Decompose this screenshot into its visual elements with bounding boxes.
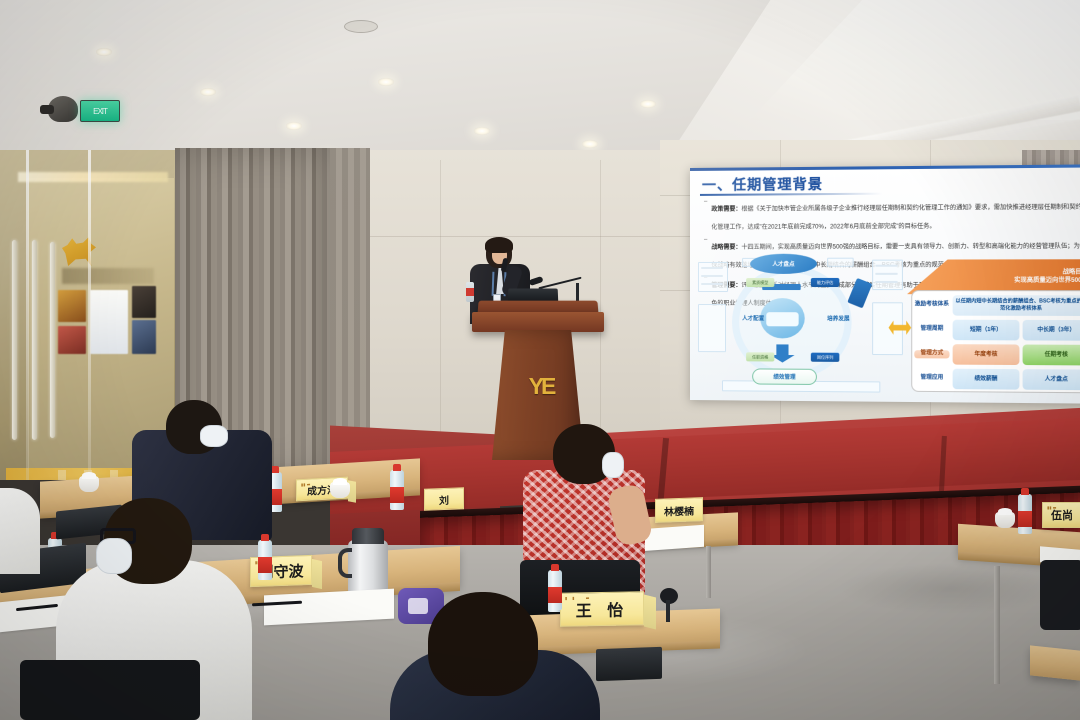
showcase-photo bbox=[58, 326, 86, 354]
diagram-tag: 素质模型 bbox=[746, 278, 774, 287]
diagram-ghost-line bbox=[701, 275, 723, 277]
showcase-caption-block bbox=[62, 268, 154, 284]
diagram-node-left-label: 人才配置 bbox=[742, 314, 764, 322]
table-row-label: 管理方式 bbox=[914, 350, 949, 358]
table-cell: 任期考核 bbox=[1023, 345, 1080, 366]
slide-bullet-item: – 政策需要：根据《关于加快市管企业所属各级子企业推行经理层任期制和契约化管理工… bbox=[704, 195, 1080, 234]
projection-screen: 一、任期管理背景 – 政策需要：根据《关于加快市管企业所属各级子企业推行经理层任… bbox=[690, 164, 1080, 403]
conference-room-photo: EXIT 一、任期管理背景 bbox=[0, 0, 1080, 720]
diagram-node-right: 培养发展 bbox=[817, 310, 860, 326]
desk-microphone-stem bbox=[666, 600, 670, 622]
door-handle[interactable] bbox=[12, 240, 17, 440]
water-bottle bbox=[390, 470, 404, 510]
slide-incentive-table: 激励考核体系 以任期内短中长期结合的薪酬组合、BSC考核为重点的规范化激励考核体… bbox=[911, 290, 1080, 393]
diagram-node-left: 人才配置 bbox=[732, 310, 774, 326]
presentation-slide: 一、任期管理背景 – 政策需要：根据《关于加快市管企业所属各级子企业推行经理层任… bbox=[690, 164, 1080, 403]
table-cell: 人才盘点 bbox=[1023, 369, 1080, 390]
diagram-ghost-line bbox=[875, 273, 898, 275]
slide-title-underline bbox=[700, 193, 882, 196]
security-camera-icon bbox=[48, 96, 78, 122]
diagram-node-top: 人才盘点 bbox=[750, 254, 817, 274]
tea-cup bbox=[79, 476, 99, 492]
slide-cycle-diagram: 人才盘点 人才配置 培养发展 绩效管理 素质模型 能力评估 任职资格 岗位序列 bbox=[698, 251, 906, 393]
name-card-name: 刘 bbox=[439, 491, 449, 506]
showcase-photo bbox=[132, 286, 156, 318]
window-curtain-secondary bbox=[330, 148, 370, 468]
name-card-org: ▮▮ ▬ bbox=[1047, 505, 1056, 510]
table-row-label: 激励考核体系 bbox=[914, 302, 949, 310]
diagram-ghost-line bbox=[701, 283, 723, 285]
podium-ledge bbox=[472, 312, 604, 332]
exit-sign-label: EXIT bbox=[93, 107, 107, 116]
tea-cup-lid bbox=[333, 478, 347, 485]
table-row: 管理方式 年度考核 任期考核 bbox=[914, 343, 1080, 366]
face-mask bbox=[200, 425, 228, 447]
tea-cup-lid bbox=[998, 508, 1012, 515]
diagram-sheet-icon bbox=[847, 278, 872, 309]
diagram-ghost-box bbox=[827, 258, 854, 267]
diagram-node-bottom: 绩效管理 bbox=[752, 368, 817, 385]
door-mullion bbox=[88, 150, 91, 480]
showcase-photo bbox=[58, 290, 86, 322]
office-chair bbox=[1040, 560, 1080, 630]
name-card-side bbox=[644, 595, 656, 630]
door-handle[interactable] bbox=[32, 240, 37, 440]
face-mask bbox=[96, 538, 132, 574]
water-bottle bbox=[1018, 494, 1032, 534]
diagram-node-bottom-label: 绩效管理 bbox=[773, 373, 795, 381]
bullet-label: 战略需要： bbox=[711, 245, 741, 251]
name-card-org: ▮▮ ▬ bbox=[565, 595, 594, 601]
podium-logo: YE bbox=[524, 372, 558, 400]
table-cell: 中长期（3年） bbox=[1023, 320, 1080, 341]
table-leg bbox=[994, 566, 1000, 684]
name-card-org: ▮▮ ▬ bbox=[301, 482, 310, 487]
presenter-hair bbox=[485, 237, 513, 253]
downlight-icon bbox=[474, 127, 490, 135]
banner-line-1: 战略目标 bbox=[1063, 269, 1080, 277]
tea-cup-lid bbox=[82, 472, 96, 479]
downlight-icon bbox=[286, 122, 302, 130]
showcase-photo bbox=[90, 290, 128, 354]
thermos-handle[interactable] bbox=[338, 548, 352, 578]
name-card: ▮▮ ▬ 伍尚 bbox=[1042, 502, 1080, 528]
table-cell: 绩效薪酬 bbox=[953, 369, 1020, 390]
diagram-tag: 岗位序列 bbox=[811, 353, 840, 362]
diagram-node-right-label: 培养发展 bbox=[827, 314, 849, 322]
downlight-icon bbox=[640, 100, 656, 108]
attendee-torso bbox=[0, 488, 40, 574]
tea-cup bbox=[995, 512, 1015, 528]
table-row: 激励考核体系 以任期内短中长期结合的薪酬组合、BSC考核为重点的规范化激励考核体… bbox=[914, 294, 1080, 317]
table-row-label: 管理应用 bbox=[914, 375, 949, 383]
name-card: 刘 bbox=[424, 487, 464, 510]
table-cell: 短期（1年） bbox=[953, 320, 1020, 341]
table-leg bbox=[706, 546, 711, 598]
bottle-cap bbox=[261, 534, 269, 541]
ceiling-vent-icon bbox=[344, 20, 378, 33]
office-chair bbox=[20, 660, 200, 720]
table-row-label: 管理周期 bbox=[914, 326, 949, 334]
downlight-icon bbox=[200, 88, 216, 96]
purple-pouch-logo bbox=[408, 598, 428, 614]
downlight-icon bbox=[96, 48, 112, 56]
showcase-photo bbox=[132, 320, 156, 354]
diagram-tag: 能力评估 bbox=[811, 278, 840, 287]
bottle-label bbox=[548, 587, 562, 603]
laptop bbox=[596, 647, 662, 681]
table-far-right-lower bbox=[1030, 645, 1080, 680]
bullet-dash-icon: – bbox=[704, 198, 707, 234]
face-mask bbox=[602, 452, 624, 478]
table-row: 管理周期 短期（1年） 中长期（3年） bbox=[914, 319, 1080, 342]
showcase-light-strip bbox=[18, 172, 168, 182]
attendee-head bbox=[428, 592, 538, 696]
name-card: 林樱楠 bbox=[655, 497, 703, 523]
bottle-label bbox=[258, 557, 272, 573]
bottle-label bbox=[390, 487, 404, 503]
door-handle[interactable] bbox=[50, 242, 55, 438]
diagram-tag: 任职资格 bbox=[746, 352, 774, 361]
water-bottle bbox=[258, 540, 272, 580]
tea-cup bbox=[330, 482, 350, 498]
water-bottle bbox=[548, 570, 562, 610]
downlight-icon bbox=[582, 140, 598, 148]
bullet-text: 根据《关于加快市管企业所属各级子企业推行经理层任期制和契约化管理工作的通知》要求… bbox=[711, 205, 1080, 231]
diagram-ghost-box bbox=[698, 304, 726, 352]
bottle-label bbox=[1018, 511, 1032, 527]
bottle-cap bbox=[271, 466, 279, 473]
downlight-icon bbox=[378, 78, 394, 86]
exit-sign: EXIT bbox=[80, 100, 120, 122]
diagram-ghost-line bbox=[875, 281, 898, 283]
podium-water-bottle bbox=[466, 282, 474, 302]
banner-line-2: 实现高质量迈向世界500强 bbox=[1014, 277, 1080, 285]
bottle-cap bbox=[1021, 488, 1029, 495]
name-card-name: 林樱楠 bbox=[664, 502, 694, 518]
bottle-cap bbox=[551, 564, 559, 571]
bullet-label: 政策需要： bbox=[711, 207, 741, 213]
table-cell: 年度考核 bbox=[953, 344, 1020, 365]
bottle-cap bbox=[393, 464, 401, 471]
name-card: ▮▮ ▬ 王 怡 bbox=[560, 591, 644, 626]
slide-title: 一、任期管理背景 bbox=[702, 174, 823, 195]
diagram-ghost-line bbox=[701, 267, 723, 269]
diagram-node-top-label: 人才盘点 bbox=[772, 260, 794, 268]
table-header-text: 以任期内短中长期结合的薪酬组合、BSC考核为重点的规范化激励考核体系 bbox=[953, 295, 1080, 316]
diagram-ghost-line bbox=[875, 265, 898, 267]
thermos-lid bbox=[352, 528, 384, 544]
table-row: 管理应用 绩效薪酬 人才盘点 bbox=[914, 367, 1080, 391]
name-card-side bbox=[312, 559, 322, 589]
door-mullion bbox=[26, 150, 29, 480]
